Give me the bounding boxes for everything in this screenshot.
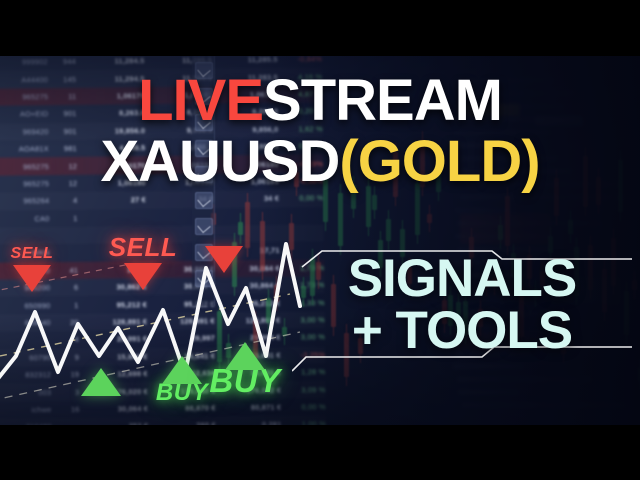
sell-marker-center: SELL [100, 234, 186, 290]
buy-arrow-icon [225, 342, 265, 370]
headline-live: LIVE [138, 68, 263, 133]
headline-pair: XAUUSD [100, 129, 339, 194]
buy-marker-left [66, 368, 136, 396]
headline-stream: STREAM [263, 68, 502, 133]
buy-arrow-icon [81, 368, 121, 396]
headline-line-1: LIVESTREAM [0, 74, 640, 129]
headline-block: LIVESTREAM XAUUSD(GOLD) [0, 56, 640, 189]
letterbox-bottom [0, 425, 640, 480]
buy-marker-right: BUY [190, 342, 300, 397]
thumbnail-canvas: 99990294411,284.511,285.511,285.5-0,84%A… [0, 0, 640, 480]
sell-arrow-icon [205, 246, 243, 273]
signals-tools-plate: SIGNALS + TOOLS [292, 245, 632, 385]
plate-text: SIGNALS + TOOLS [292, 255, 632, 354]
plate-line-signals: SIGNALS [292, 255, 632, 303]
plate-line-tools: + TOOLS [292, 307, 632, 355]
headline-gold: (GOLD) [339, 129, 539, 194]
sell-arrow-icon [124, 263, 162, 290]
sell-label: SELL [100, 234, 186, 260]
sell-marker-left: SELL [0, 246, 70, 292]
sell-marker-right [194, 246, 254, 273]
sell-arrow-icon [13, 265, 51, 292]
sell-label: SELL [0, 246, 70, 262]
headline-line-2: XAUUSD(GOLD) [0, 135, 640, 190]
letterbox-top [0, 0, 640, 56]
